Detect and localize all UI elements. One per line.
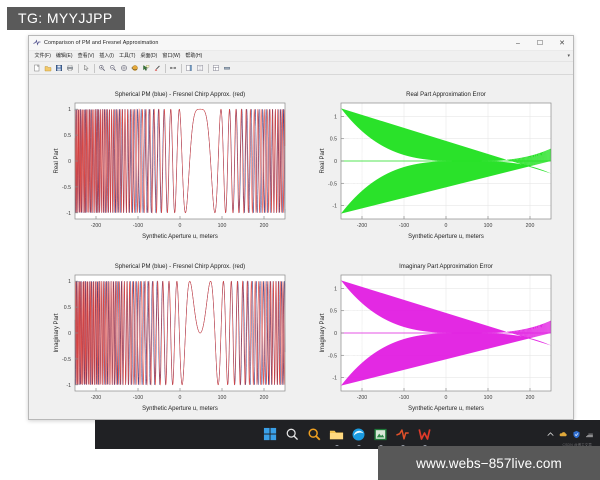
menu-desktop[interactable]: 桌面(D) bbox=[138, 51, 160, 62]
open-file-icon[interactable] bbox=[43, 63, 53, 73]
svg-text:200: 200 bbox=[260, 223, 269, 229]
svg-text:-200: -200 bbox=[357, 223, 367, 229]
zoom-out-icon[interactable] bbox=[108, 63, 118, 73]
system-tray bbox=[546, 430, 594, 439]
svg-text:0: 0 bbox=[179, 395, 182, 401]
svg-text:0.5: 0.5 bbox=[64, 133, 71, 139]
matlab-icon[interactable] bbox=[395, 427, 410, 442]
svg-text:100: 100 bbox=[218, 395, 227, 401]
toolbar-separator bbox=[78, 64, 79, 73]
insert-legend-icon[interactable] bbox=[195, 63, 205, 73]
svg-text:0: 0 bbox=[68, 159, 71, 165]
edit-plot-icon[interactable] bbox=[81, 63, 91, 73]
svg-text:Synthetic Aperture u, meters: Synthetic Aperture u, meters bbox=[408, 406, 484, 412]
screen: Comparison of PM and Fresnel Approximati… bbox=[0, 0, 600, 480]
svg-text:1: 1 bbox=[68, 107, 71, 113]
menu-bar: 文件(F)编辑(E)查看(V)插入(I)工具(T)桌面(D)窗口(W)帮助(H)… bbox=[29, 51, 573, 62]
window-controls: – ☐ ✕ bbox=[507, 36, 573, 51]
print-figure-icon[interactable] bbox=[65, 63, 75, 73]
svg-text:Real Part: Real Part bbox=[54, 148, 60, 173]
svg-text:Imaginary Part: Imaginary Part bbox=[320, 313, 326, 352]
insert-colorbar-icon[interactable] bbox=[184, 63, 194, 73]
minimize-button[interactable]: – bbox=[507, 36, 529, 51]
figure-toolbar bbox=[29, 62, 573, 75]
svg-text:Spherical PM (blue) - Fresnel: Spherical PM (blue) - Fresnel Chirp Appr… bbox=[115, 264, 245, 270]
menu-window[interactable]: 窗口(W) bbox=[160, 51, 183, 62]
svg-text:-0.5: -0.5 bbox=[328, 353, 337, 359]
svg-text:200: 200 bbox=[526, 223, 535, 229]
svg-text:0.5: 0.5 bbox=[64, 305, 71, 311]
svg-text:0: 0 bbox=[334, 159, 337, 165]
svg-text:0: 0 bbox=[179, 223, 182, 229]
menu-overflow-icon[interactable]: ▾ bbox=[567, 53, 570, 59]
search-icon[interactable] bbox=[285, 427, 300, 442]
site-watermark-banner: www.webs−857live.com bbox=[378, 446, 600, 480]
svg-text:-1: -1 bbox=[332, 204, 337, 210]
svg-text:0: 0 bbox=[445, 395, 448, 401]
svg-text:200: 200 bbox=[526, 395, 535, 401]
svg-text:-0.5: -0.5 bbox=[328, 181, 337, 187]
toolbar-separator bbox=[181, 64, 182, 73]
window-title: Comparison of PM and Fresnel Approximati… bbox=[44, 40, 158, 46]
menu-insert[interactable]: 插入(I) bbox=[97, 51, 117, 62]
plot-top-left[interactable]: -200-1000100200-1-0.500.51Spherical PM (… bbox=[35, 81, 297, 251]
start-button-icon[interactable] bbox=[263, 427, 278, 442]
save-figure-icon[interactable] bbox=[54, 63, 64, 73]
show-plot-tools-icon[interactable] bbox=[222, 63, 232, 73]
svg-text:0.5: 0.5 bbox=[330, 137, 337, 143]
svg-text:-100: -100 bbox=[133, 395, 143, 401]
svg-text:0: 0 bbox=[68, 331, 71, 337]
menu-view[interactable]: 查看(V) bbox=[75, 51, 97, 62]
svg-text:Real Part Approximation Error: Real Part Approximation Error bbox=[406, 92, 486, 98]
toolbar-separator bbox=[165, 64, 166, 73]
menu-edit[interactable]: 编辑(E) bbox=[53, 51, 75, 62]
svg-text:-200: -200 bbox=[357, 395, 367, 401]
svg-text:1: 1 bbox=[334, 114, 337, 120]
svg-text:1: 1 bbox=[68, 279, 71, 285]
windows-taskbar: CSDN @博主文章 bbox=[95, 420, 600, 449]
running-indicator bbox=[357, 445, 360, 446]
svg-text:-200: -200 bbox=[91, 395, 101, 401]
hide-plot-tools-icon[interactable] bbox=[211, 63, 221, 73]
svg-text:-100: -100 bbox=[399, 395, 409, 401]
file-explorer-icon[interactable] bbox=[329, 427, 344, 442]
svg-text:Synthetic Aperture u, meters: Synthetic Aperture u, meters bbox=[408, 234, 484, 240]
network-icon[interactable] bbox=[585, 430, 594, 439]
brush-icon[interactable] bbox=[152, 63, 162, 73]
menu-tools[interactable]: 工具(T) bbox=[116, 51, 137, 62]
toolbar-separator bbox=[94, 64, 95, 73]
svg-text:1: 1 bbox=[334, 286, 337, 292]
svg-text:Spherical PM (blue) - Fresnel: Spherical PM (blue) - Fresnel Chirp Appr… bbox=[115, 92, 245, 98]
svg-text:Synthetic Aperture u, meters: Synthetic Aperture u, meters bbox=[142, 406, 218, 412]
svg-text:-0.5: -0.5 bbox=[62, 185, 71, 191]
image-viewer-icon[interactable] bbox=[373, 427, 388, 442]
matlab-figure-window: Comparison of PM and Fresnel Approximati… bbox=[28, 35, 574, 420]
svg-text:200: 200 bbox=[260, 395, 269, 401]
tg-watermark-banner: TG: MYYJJPP bbox=[7, 7, 125, 30]
svg-text:-1: -1 bbox=[332, 376, 337, 382]
menu-file[interactable]: 文件(F) bbox=[32, 51, 53, 62]
menu-help[interactable]: 帮助(H) bbox=[183, 51, 205, 62]
close-button[interactable]: ✕ bbox=[551, 36, 573, 51]
edge-browser-icon[interactable] bbox=[351, 427, 366, 442]
new-figure-icon[interactable] bbox=[32, 63, 42, 73]
svg-text:Real Part: Real Part bbox=[320, 148, 326, 173]
svg-text:-1: -1 bbox=[66, 383, 71, 389]
svg-text:100: 100 bbox=[484, 395, 493, 401]
svg-text:-200: -200 bbox=[91, 223, 101, 229]
plot-bottom-left[interactable]: -200-1000100200-1-0.500.51Spherical PM (… bbox=[35, 253, 297, 419]
running-indicator bbox=[335, 445, 338, 446]
toolbar-separator bbox=[208, 64, 209, 73]
svg-text:0: 0 bbox=[445, 223, 448, 229]
link-data-icon[interactable] bbox=[168, 63, 178, 73]
rotate-3d-icon[interactable] bbox=[130, 63, 140, 73]
figure-canvas: -200-1000100200-1-0.500.51Spherical PM (… bbox=[29, 75, 573, 419]
svg-text:Imaginary Part: Imaginary Part bbox=[54, 313, 60, 352]
svg-text:-0.5: -0.5 bbox=[62, 357, 71, 363]
svg-text:-1: -1 bbox=[66, 211, 71, 217]
plot-bottom-right[interactable]: -200-1000100200-1-0.500.51Imaginary Part… bbox=[301, 253, 563, 419]
chevron-up-icon[interactable] bbox=[546, 430, 555, 439]
svg-text:Synthetic Aperture u, meters: Synthetic Aperture u, meters bbox=[142, 234, 218, 240]
svg-text:100: 100 bbox=[484, 223, 493, 229]
plot-top-right[interactable]: -200-1000100200-1-0.500.51Real Part Appr… bbox=[301, 81, 563, 251]
security-shield-icon[interactable] bbox=[572, 430, 581, 439]
onedrive-icon[interactable] bbox=[559, 430, 568, 439]
svg-text:Imaginary Part Approximation E: Imaginary Part Approximation Error bbox=[399, 264, 493, 270]
zoom-in-icon[interactable] bbox=[97, 63, 107, 73]
wps-office-icon[interactable] bbox=[417, 427, 432, 442]
data-cursor-icon[interactable] bbox=[141, 63, 151, 73]
window-titlebar[interactable]: Comparison of PM and Fresnel Approximati… bbox=[29, 36, 573, 51]
matlab-figure-icon bbox=[33, 39, 41, 47]
svg-text:-100: -100 bbox=[399, 223, 409, 229]
taskbar-apps bbox=[263, 427, 432, 442]
svg-text:0.5: 0.5 bbox=[330, 309, 337, 315]
maximize-button[interactable]: ☐ bbox=[529, 36, 551, 51]
pan-icon[interactable] bbox=[119, 63, 129, 73]
svg-text:-100: -100 bbox=[133, 223, 143, 229]
svg-text:100: 100 bbox=[218, 223, 227, 229]
svg-text:0: 0 bbox=[334, 331, 337, 337]
magnifier-app-icon[interactable] bbox=[307, 427, 322, 442]
